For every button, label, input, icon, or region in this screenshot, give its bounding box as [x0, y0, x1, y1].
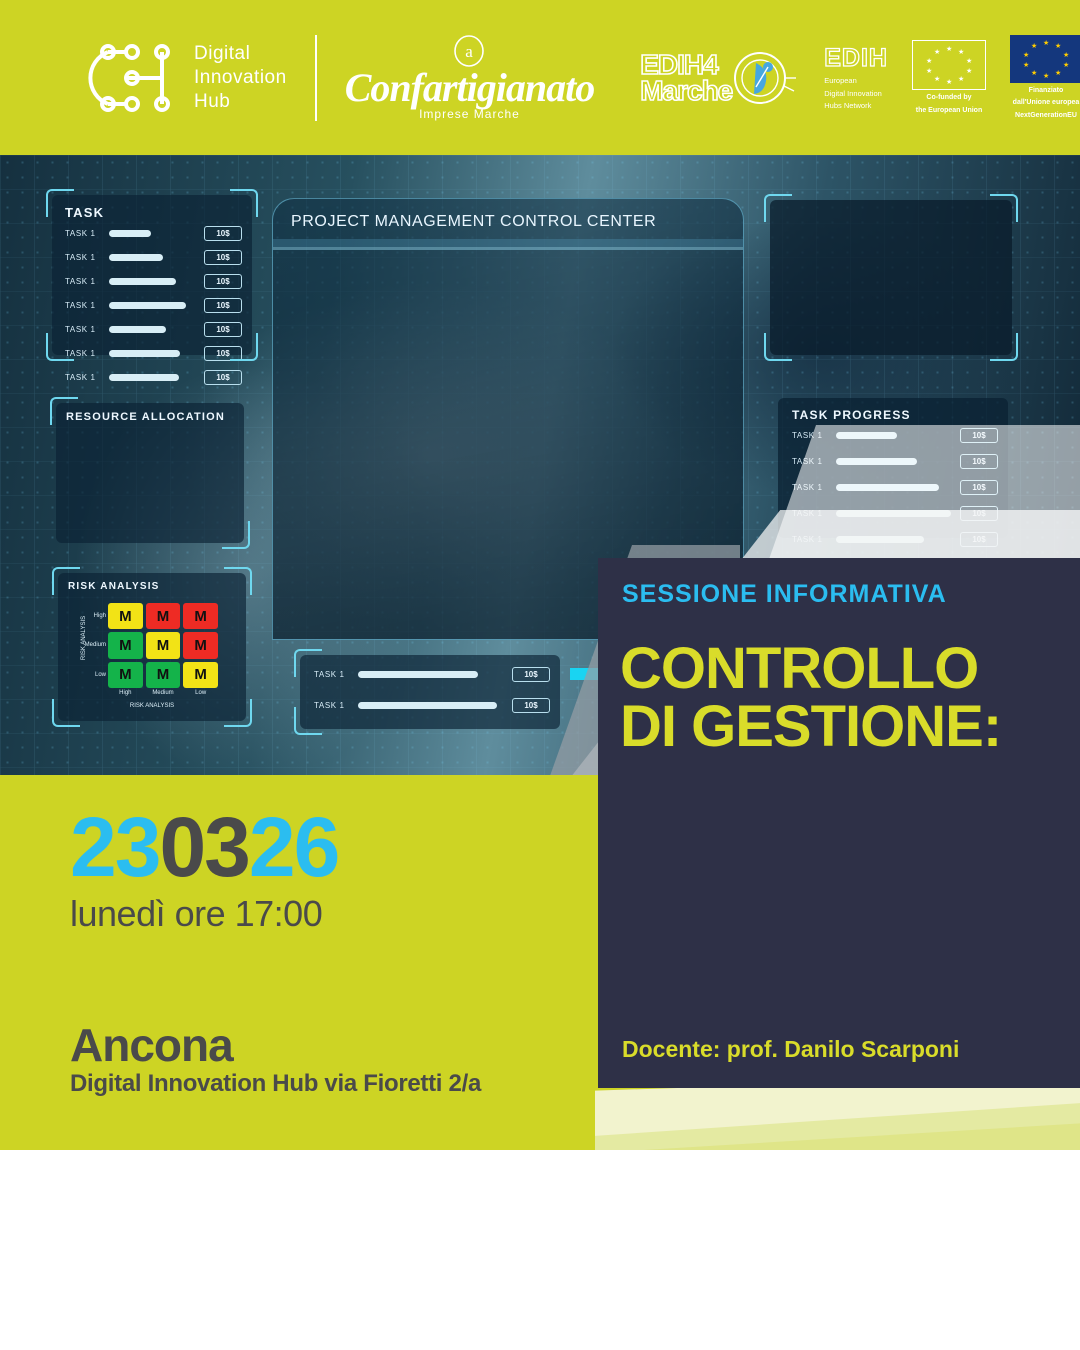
session-kicker: SESSIONE INFORMATIVA [622, 580, 947, 609]
task-bar-track [358, 702, 504, 709]
task-row: TASK 110$ [65, 346, 242, 361]
monthly-bar-chart [800, 220, 988, 328]
risk-row-label: Medium [72, 632, 106, 658]
task-bar-track [109, 350, 196, 357]
risk-analysis-panel: RISK ANALYSIS MMMMMMMMM HighMediumLow Hi… [58, 573, 246, 721]
dih-network-icon [70, 42, 180, 114]
task-panel: TASK TASK 110$TASK 110$TASK 110$TASK 110… [52, 195, 252, 355]
bracket-icon [52, 567, 80, 595]
eu-nextgen-l2: dall'Unione europea [1010, 99, 1080, 108]
confartigianato-name: Confartigianato [345, 67, 595, 109]
task-bar-track [109, 302, 196, 309]
risk-row-label: Low [72, 662, 106, 688]
task-row: TASK 110$ [65, 250, 242, 265]
session-title: CONTROLLO DI GESTIONE: [620, 640, 1070, 756]
pmcc-title: PROJECT MANAGEMENT CONTROL CENTER [273, 199, 743, 239]
risk-cell: M [146, 662, 181, 688]
task-badge: 10$ [512, 698, 550, 713]
task-bar-track [109, 230, 196, 237]
risk-cell: M [108, 632, 143, 658]
bracket-icon [50, 397, 78, 425]
dih-line-1: Digital [194, 42, 287, 66]
risk-analysis-title: RISK ANALYSIS [58, 573, 246, 592]
task-badge: 10$ [204, 370, 242, 385]
monthly-bar-panel [770, 200, 1012, 355]
eu-cofunded-logo: ★ ★ ★ ★ ★ ★ ★ ★ ★ ★ Co-funded by the Eur… [912, 40, 986, 115]
task-label: TASK 1 [65, 229, 109, 238]
eu-flag-icon: ★ ★ ★ ★ ★ ★ ★ ★ ★ ★ [1010, 35, 1080, 83]
task-bar-track [109, 254, 196, 261]
risk-row-label: High [72, 603, 106, 629]
bracket-icon [294, 649, 322, 677]
event-date: 230326 [70, 805, 338, 889]
task-row: TASK 110$ [65, 322, 242, 337]
risk-col-labels: HighMediumLow [108, 690, 218, 696]
task-bar-fill [109, 254, 163, 261]
dih-wordmark: Digital Innovation Hub [194, 42, 287, 114]
dih-logo: Digital Innovation Hub [70, 42, 287, 114]
bracket-icon [764, 194, 792, 222]
task-bar-fill [109, 302, 186, 309]
svg-text:a: a [466, 42, 474, 61]
eu-cofunded-l2: the European Union [912, 107, 986, 116]
task-bar-fill [109, 230, 151, 237]
footer-partner-logos [0, 1150, 1080, 1350]
risk-cell: M [183, 662, 218, 688]
task-bar-track [109, 326, 196, 333]
session-title-line-1: CONTROLLO [620, 640, 1070, 698]
task-bar-fill [109, 350, 180, 357]
edih-network-l3: Hubs Network [824, 101, 888, 111]
title-card: SESSIONE INFORMATIVA CONTROLLO DI GESTIO… [598, 558, 1080, 1088]
bracket-icon [990, 333, 1018, 361]
risk-col-label: Low [183, 690, 218, 696]
task-progress-title: TASK PROGRESS [778, 398, 1008, 428]
task-row: TASK 110$ [314, 667, 550, 682]
header-bar: Digital Innovation Hub a Confartigianato… [0, 0, 1080, 155]
edih4marche-logo: EDIH4 Marche [640, 47, 798, 109]
bottom-task-panel: TASK 110$TASK 110$ [300, 655, 560, 729]
task-bar-fill [358, 702, 497, 709]
bracket-icon [294, 707, 322, 735]
task-badge: 10$ [204, 250, 242, 265]
task-badge: 10$ [204, 274, 242, 289]
partner-logo-row-1 [0, 1175, 1080, 1255]
task-row: TASK 110$ [65, 274, 242, 289]
task-badge: 10$ [512, 667, 550, 682]
event-poster: Digital Innovation Hub a Confartigianato… [0, 0, 1080, 1350]
task-bar-track [109, 278, 196, 285]
pmcc-gantt-chart [273, 250, 743, 550]
risk-matrix: MMMMMMMMM [108, 603, 218, 688]
partner-logo-row-2 [0, 1270, 1080, 1345]
task-row: TASK 110$ [65, 370, 242, 385]
edih-network-l2: Digital Innovation [824, 89, 888, 99]
task-bar-fill [109, 278, 176, 285]
task-bar-track [109, 374, 196, 381]
event-date-day: 23 [70, 800, 159, 894]
risk-cell: M [108, 662, 143, 688]
resource-allocation-panel: RESOURCE ALLOCATION [56, 403, 244, 543]
task-badge: 10$ [204, 226, 242, 241]
event-venue: Digital Innovation Hub via Fioretti 2/a [70, 1070, 481, 1098]
eu-stars-icon: ★ ★ ★ ★ ★ ★ ★ ★ ★ ★ [912, 40, 986, 90]
risk-cell: M [146, 603, 181, 629]
eu-nextgen-l3: NextGenerationEU [1010, 112, 1080, 121]
task-bar-track [358, 671, 504, 678]
task-bar-fill [109, 374, 179, 381]
edih-network-acronym: EDIH [824, 44, 888, 73]
bracket-icon [764, 333, 792, 361]
resource-allocation-title: RESOURCE ALLOCATION [56, 403, 244, 423]
bracket-icon [46, 333, 74, 361]
bottom-task-row-list: TASK 110$TASK 110$ [300, 655, 560, 713]
bracket-icon [224, 567, 252, 595]
edih-network-logo: EDIH European Digital Innovation Hubs Ne… [824, 44, 888, 111]
risk-y-axis-label: RISK ANALYSIS [81, 616, 87, 660]
risk-row-labels: HighMediumLow [72, 603, 106, 688]
confartigianato-subtitle: Imprese Marche [419, 107, 520, 121]
task-badge: 10$ [204, 298, 242, 313]
dih-line-2: Innovation [194, 66, 287, 90]
risk-col-label: High [108, 690, 143, 696]
resource-allocation-chart [84, 437, 230, 525]
risk-col-label: Medium [146, 690, 181, 696]
task-label: TASK 1 [65, 253, 109, 262]
task-bar-fill [358, 671, 478, 678]
risk-cell: M [108, 603, 143, 629]
event-time: lunedì ore 17:00 [70, 893, 322, 935]
risk-x-axis-label: RISK ANALYSIS [58, 703, 246, 709]
eu-nextgen-l1: Finanziato [1010, 87, 1080, 96]
risk-cell: M [183, 632, 218, 658]
task-panel-title: TASK [52, 195, 252, 226]
task-row: TASK 110$ [65, 298, 242, 313]
task-row: TASK 110$ [314, 698, 550, 713]
dih-line-3: Hub [194, 90, 287, 114]
session-speaker: Docente: prof. Danilo Scarponi [622, 1036, 959, 1063]
event-date-year: 26 [249, 800, 338, 894]
task-label: TASK 1 [65, 373, 109, 382]
edih-network-l1: European [824, 76, 888, 86]
pmcc-meta-row [273, 239, 743, 247]
eu-nextgen-logo: ★ ★ ★ ★ ★ ★ ★ ★ ★ ★ Finanziato dall'Unio… [1010, 35, 1080, 121]
risk-cell: M [183, 603, 218, 629]
bracket-icon [230, 189, 258, 217]
bracket-icon [222, 521, 250, 549]
event-city: Ancona [70, 1018, 233, 1072]
risk-cell: M [146, 632, 181, 658]
task-label: TASK 1 [65, 301, 109, 310]
bracket-icon [990, 194, 1018, 222]
bracket-icon [230, 333, 258, 361]
event-date-month: 03 [159, 800, 248, 894]
task-row: TASK 110$ [65, 226, 242, 241]
task-label: TASK 1 [65, 277, 109, 286]
task-row-list: TASK 110$TASK 110$TASK 110$TASK 110$TASK… [52, 226, 252, 385]
edih4-marche-globe-icon [726, 47, 798, 109]
eu-cofunded-l1: Co-funded by [912, 94, 986, 103]
session-title-line-2: DI GESTIONE: [620, 698, 1070, 756]
bracket-icon [46, 189, 74, 217]
task-bar-fill [109, 326, 166, 333]
edih4-line-1: EDIH4 [640, 52, 732, 78]
header-divider [315, 35, 317, 121]
at-symbol-icon: a [452, 35, 486, 67]
edih4-line-2: Marche [640, 78, 732, 104]
confartigianato-logo: a Confartigianato Imprese Marche [345, 35, 595, 121]
